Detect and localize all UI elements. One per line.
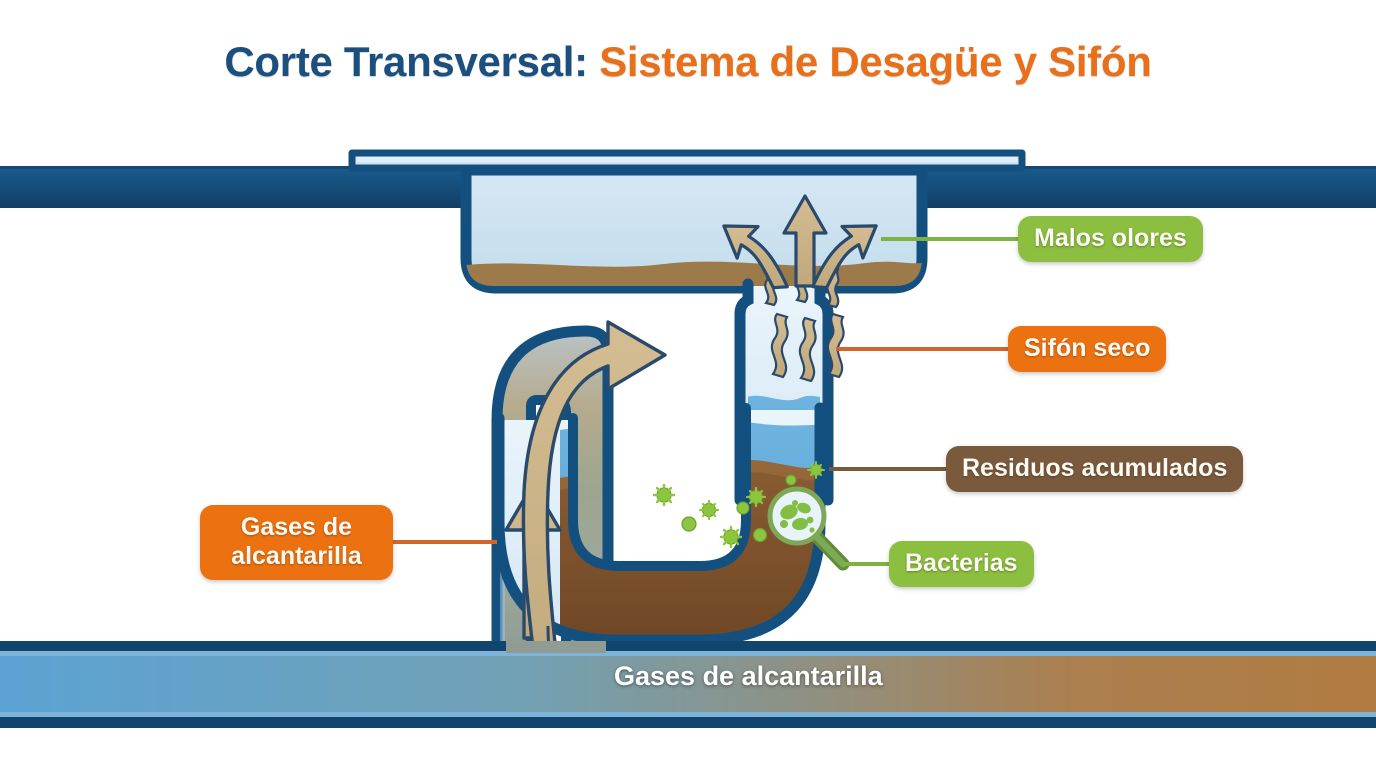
callout-gases-line2: alcantarilla xyxy=(231,542,362,570)
page-title-part2: Sistema de Desagüe y Sifón xyxy=(599,38,1151,85)
diagram-canvas: Corte Transversal: Sistema de Desagüe y … xyxy=(0,0,1376,768)
callout-gases-line1: Gases de xyxy=(241,513,352,541)
callout-bacterias[interactable]: Bacterias xyxy=(889,541,1034,587)
callout-sifon-seco[interactable]: Sifón seco xyxy=(1008,326,1166,372)
callout-malos-olores[interactable]: Malos olores xyxy=(1018,216,1203,262)
page-title-part1: Corte Transversal: xyxy=(224,38,599,85)
page-title: Corte Transversal: Sistema de Desagüe y … xyxy=(0,38,1376,86)
callout-residuos-acumulados[interactable]: Residuos acumulados xyxy=(946,446,1243,492)
callout-sifon-seco-label: Sifón seco xyxy=(1024,334,1150,362)
callout-bacterias-label: Bacterias xyxy=(905,549,1018,577)
callout-malos-olores-label: Malos olores xyxy=(1034,224,1187,252)
cross-section-illustration xyxy=(0,0,1376,768)
sewer-pipe-caption: Gases de alcantarilla xyxy=(614,661,883,692)
callout-residuos-acumulados-label: Residuos acumulados xyxy=(962,454,1227,482)
callout-gases-de-alcantarilla[interactable]: Gases de alcantarilla xyxy=(200,505,393,580)
